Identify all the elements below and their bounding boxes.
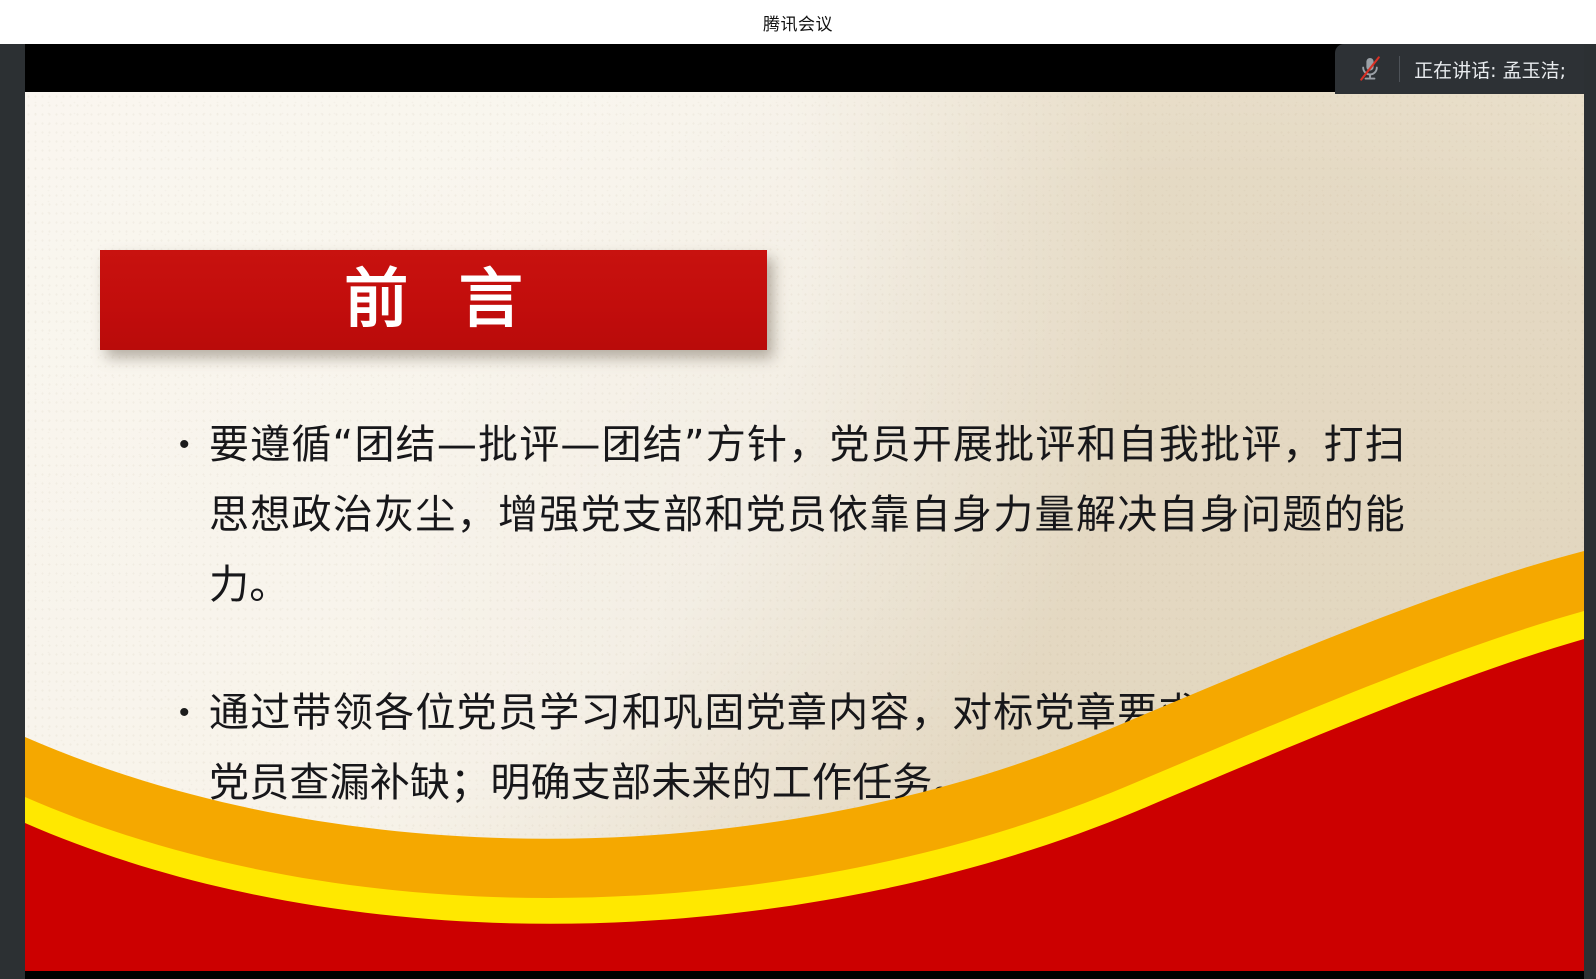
active-speaker-label: 正在讲话: 孟玉洁; (1414, 56, 1566, 83)
slide-bullet-list: • 要遵循“团结—批评—团结”方针，党员开展批评和自我批评，打扫思想政治灰尘，增… (165, 410, 1405, 876)
microphone-muted-icon (1357, 54, 1383, 84)
badge-divider (1399, 56, 1400, 82)
meeting-stage: 前 言 • 要遵循“团结—批评—团结”方针，党员开展批评和自我批评，打扫思想政治… (0, 44, 1596, 979)
window-title-bar: 腾讯会议 (0, 0, 1596, 44)
presentation-slide: 前 言 • 要遵循“团结—批评—团结”方针，党员开展批评和自我批评，打扫思想政治… (25, 92, 1584, 971)
slide-heading-text: 前 言 (330, 268, 537, 332)
window-title: 腾讯会议 (763, 10, 833, 35)
active-speaker-badge[interactable]: 正在讲话: 孟玉洁; (1335, 44, 1584, 94)
slide-heading-banner: 前 言 (100, 250, 767, 350)
heading-banner-fill: 前 言 (100, 250, 767, 350)
list-item: • 通过带领各位党员学习和巩固党章内容，对标党章要求，帮助各位党员查漏补缺；明确… (165, 678, 1405, 818)
list-item: • 要遵循“团结—批评—团结”方针，党员开展批评和自我批评，打扫思想政治灰尘，增… (165, 410, 1405, 620)
bullet-marker-icon: • (165, 678, 209, 748)
bullet-marker-icon: • (165, 410, 209, 480)
bullet-text: 要遵循“团结—批评—团结”方针，党员开展批评和自我批评，打扫思想政治灰尘，增强党… (209, 410, 1405, 620)
bullet-text: 通过带领各位党员学习和巩固党章内容，对标党章要求，帮助各位党员查漏补缺；明确支部… (209, 678, 1405, 818)
shared-screen-letterbox: 前 言 • 要遵循“团结—批评—团结”方针，党员开展批评和自我批评，打扫思想政治… (25, 44, 1584, 979)
